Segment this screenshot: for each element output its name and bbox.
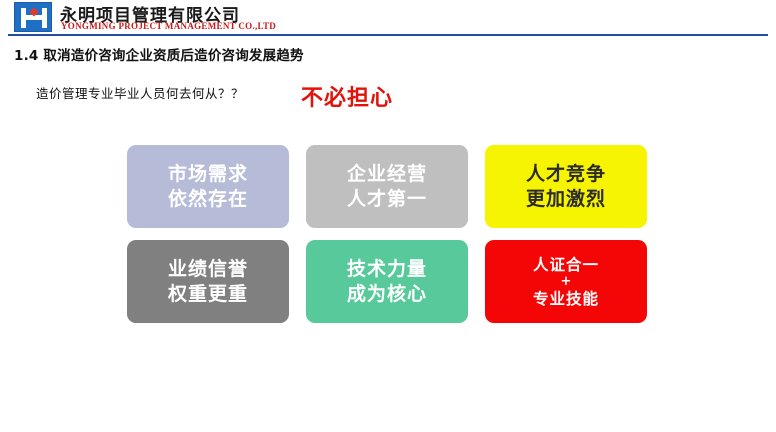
tile-line: 人才第一: [347, 187, 427, 212]
company-logo-icon: [14, 2, 52, 32]
tile-line: 技术力量: [347, 257, 427, 282]
tile-line: 企业经营: [347, 162, 427, 187]
tile-line: 成为核心: [347, 282, 427, 307]
tile-market-demand[interactable]: 市场需求 依然存在: [127, 145, 289, 228]
tile-line: 人才竞争: [526, 162, 606, 187]
tile-enterprise-operation[interactable]: 企业经营 人才第一: [306, 145, 468, 228]
header-divider: [8, 34, 768, 36]
tile-line: 市场需求: [168, 162, 248, 187]
slide-header: 永明项目管理有限公司 YONGMING PROJECT MANAGEMENT C…: [0, 0, 776, 36]
tile-line: 依然存在: [168, 187, 248, 212]
tile-line: 业绩信誉: [168, 257, 248, 282]
company-name-en: YONGMING PROJECT MANAGEMENT CO.,LTD: [61, 21, 276, 31]
tile-plus-sign: +: [561, 275, 572, 289]
tile-performance-reputation[interactable]: 业绩信誉 权重更重: [127, 240, 289, 323]
question-text: 造价管理专业毕业人员何去何从？？: [36, 83, 244, 102]
page-title: 1.4 取消造价咨询企业资质后造价咨询发展趋势: [14, 44, 304, 64]
tile-line: 权重更重: [168, 282, 248, 307]
tile-line: 专业技能: [533, 289, 599, 309]
tile-line: 更加激烈: [526, 187, 606, 212]
reassurance-text: 不必担心: [301, 80, 393, 112]
tile-technical-strength[interactable]: 技术力量 成为核心: [306, 240, 468, 323]
tile-person-certificate-unity[interactable]: 人证合一 + 专业技能: [485, 240, 647, 323]
tile-grid: 市场需求 依然存在 企业经营 人才第一 人才竞争 更加激烈 业绩信誉 权重更重 …: [127, 145, 647, 330]
tile-line: 人证合一: [533, 255, 599, 275]
tile-talent-competition[interactable]: 人才竞争 更加激烈: [485, 145, 647, 228]
ym-monogram-logo-icon: [21, 8, 47, 28]
